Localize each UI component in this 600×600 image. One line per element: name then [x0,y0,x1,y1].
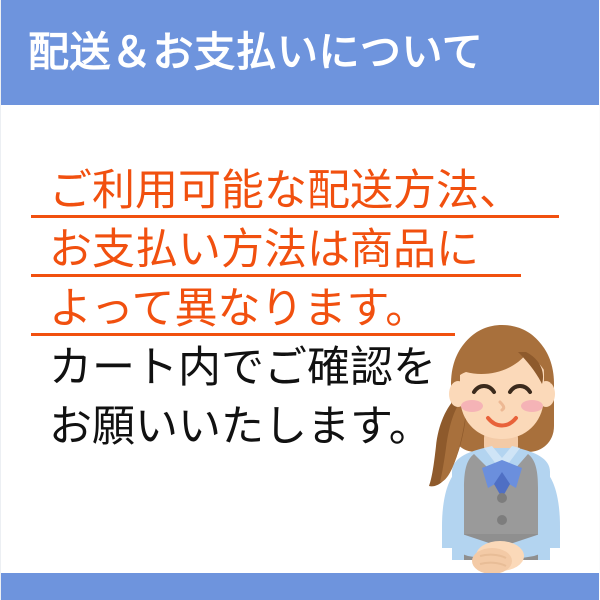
notice-line-1-text: ご利用可能な配送方法、 [49,166,522,216]
blush-left [461,400,483,412]
smiling-female-staff-illustration [396,322,600,578]
page-title: 配送＆お支払いについて [28,26,588,78]
header-band: 配送＆お支払いについて [1,0,600,105]
shipping-payment-info-banner: 配送＆お支払いについて ご利用可能な配送方法、 お支払い方法は商品に よって異な… [0,0,600,600]
blush-right [521,400,543,412]
vest-button-top [497,493,507,503]
notice-line-5-text: お願いいたします。 [49,402,432,452]
footer-band [1,573,600,600]
notice-line-2-text: お支払い方法は商品に [49,225,479,275]
notice-line-3-text: よって異なります。 [49,284,428,334]
hand-front [472,548,512,574]
underline-rule-2 [31,274,521,277]
underline-rule-1 [31,215,559,218]
notice-line-2: お支払い方法は商品に [1,222,600,281]
vest-button-bottom [497,515,507,525]
underline-rule-3 [31,333,455,336]
notice-line-1: ご利用可能な配送方法、 [1,163,600,222]
notice-line-4-text: カート内でご確認を [49,343,436,393]
